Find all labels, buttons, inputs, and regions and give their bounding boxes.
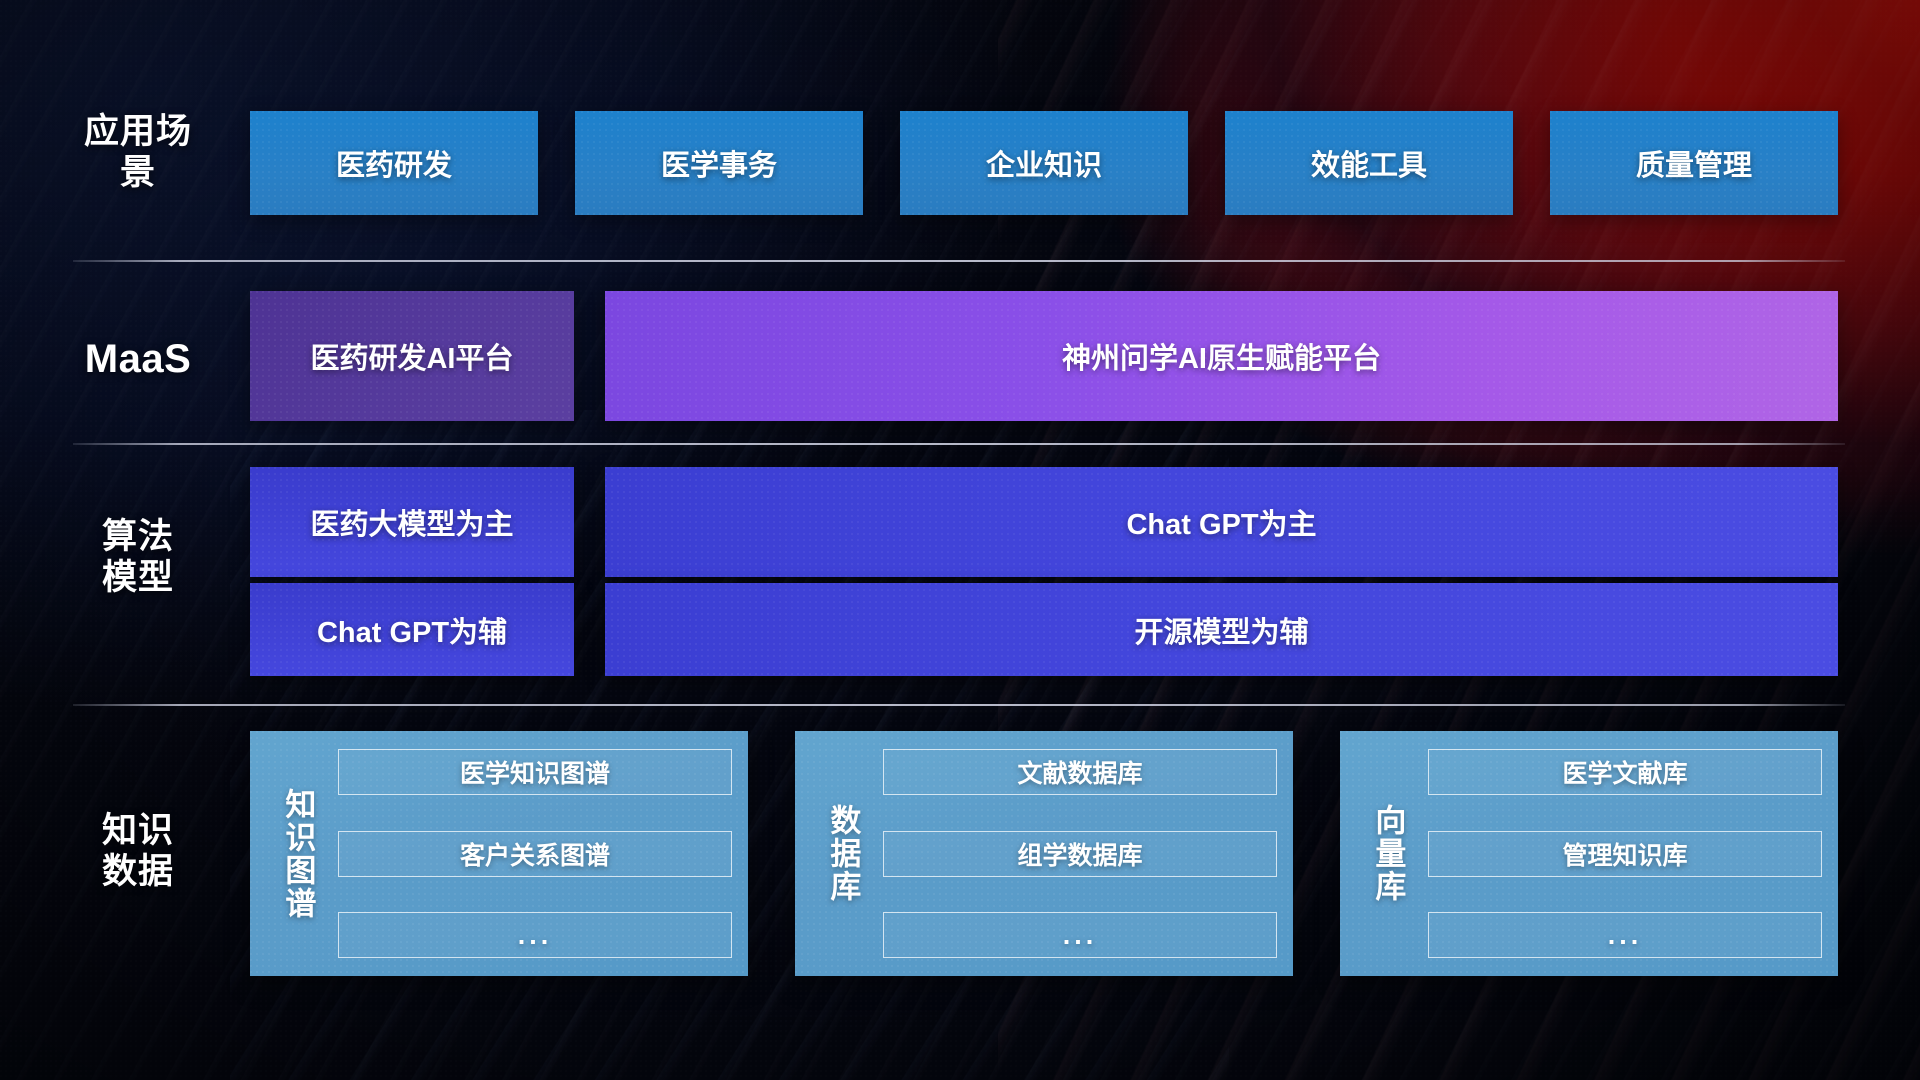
row-label-algorithm-line1: 算法	[72, 516, 204, 557]
model-box-opensource-secondary-label: 开源模型为辅	[1134, 609, 1308, 651]
knowledge-item-more[interactable]: ...	[1428, 912, 1822, 958]
knowledge-item[interactable]: 组学数据库	[883, 831, 1277, 877]
app-box-4[interactable]: 效能工具	[1225, 111, 1513, 215]
model-box-chatgpt-secondary[interactable]: Chat GPT为辅	[250, 583, 574, 676]
knowledge-group-graph-label: 知识图谱	[270, 743, 324, 964]
divider-maas-algorithm	[73, 443, 1845, 445]
architecture-diagram: 应用场景 医药研发 医学事务 企业知识 效能工具 质量管理 MaaS 医药研发A…	[0, 0, 1920, 1080]
model-box-chatgpt-primary[interactable]: Chat GPT为主	[605, 467, 1838, 577]
row-label-algorithm: 算法 模型	[72, 516, 204, 599]
divider-algorithm-knowledge	[73, 704, 1845, 706]
model-box-pharma-primary[interactable]: 医药大模型为主	[250, 467, 574, 577]
row-label-algorithm-line2: 模型	[72, 557, 204, 598]
model-box-opensource-secondary[interactable]: 开源模型为辅	[605, 583, 1838, 676]
knowledge-item[interactable]: 客户关系图谱	[338, 831, 732, 877]
app-box-1-label: 医药研发	[336, 142, 452, 184]
knowledge-group-vector-items: 医学文献库 管理知识库 ...	[1428, 743, 1822, 964]
app-box-2[interactable]: 医学事务	[575, 111, 863, 215]
maas-box-platform[interactable]: 医药研发AI平台	[250, 291, 574, 421]
knowledge-group-database[interactable]: 数据库 文献数据库 组学数据库 ...	[795, 731, 1293, 976]
model-box-chatgpt-primary-label: Chat GPT为主	[1126, 501, 1316, 543]
knowledge-item[interactable]: 文献数据库	[883, 749, 1277, 795]
knowledge-group-database-items: 文献数据库 组学数据库 ...	[883, 743, 1277, 964]
row-label-knowledge-line2: 数据	[72, 851, 204, 892]
knowledge-item[interactable]: 医学文献库	[1428, 749, 1822, 795]
row-label-application: 应用场景	[72, 111, 204, 194]
row-label-maas: MaaS	[72, 336, 204, 383]
app-box-4-label: 效能工具	[1311, 142, 1427, 184]
divider-application-maas	[73, 260, 1845, 262]
maas-box-enabling-platform-label: 神州问学AI原生赋能平台	[1062, 335, 1381, 377]
model-box-pharma-primary-label: 医药大模型为主	[310, 501, 513, 543]
app-box-1[interactable]: 医药研发	[250, 111, 538, 215]
knowledge-group-graph-items: 医学知识图谱 客户关系图谱 ...	[338, 743, 732, 964]
app-box-3[interactable]: 企业知识	[900, 111, 1188, 215]
knowledge-item[interactable]: 医学知识图谱	[338, 749, 732, 795]
knowledge-item[interactable]: 管理知识库	[1428, 831, 1822, 877]
knowledge-item-more[interactable]: ...	[338, 912, 732, 958]
knowledge-item-more[interactable]: ...	[883, 912, 1277, 958]
knowledge-group-graph[interactable]: 知识图谱 医学知识图谱 客户关系图谱 ...	[250, 731, 748, 976]
maas-box-enabling-platform[interactable]: 神州问学AI原生赋能平台	[605, 291, 1838, 421]
maas-box-platform-label: 医药研发AI平台	[310, 335, 513, 377]
knowledge-group-vector-label: 向量库	[1360, 743, 1414, 964]
app-box-5[interactable]: 质量管理	[1550, 111, 1838, 215]
knowledge-group-database-label: 数据库	[815, 743, 869, 964]
row-label-maas-text: MaaS	[72, 336, 204, 383]
row-label-application-line1: 应用场景	[72, 111, 204, 194]
knowledge-group-vector[interactable]: 向量库 医学文献库 管理知识库 ...	[1340, 731, 1838, 976]
row-label-knowledge-line1: 知识	[72, 810, 204, 851]
app-box-2-label: 医学事务	[661, 142, 777, 184]
app-box-3-label: 企业知识	[986, 142, 1102, 184]
row-label-knowledge: 知识 数据	[72, 810, 204, 893]
app-box-5-label: 质量管理	[1636, 142, 1752, 184]
model-box-chatgpt-secondary-label: Chat GPT为辅	[317, 609, 507, 651]
